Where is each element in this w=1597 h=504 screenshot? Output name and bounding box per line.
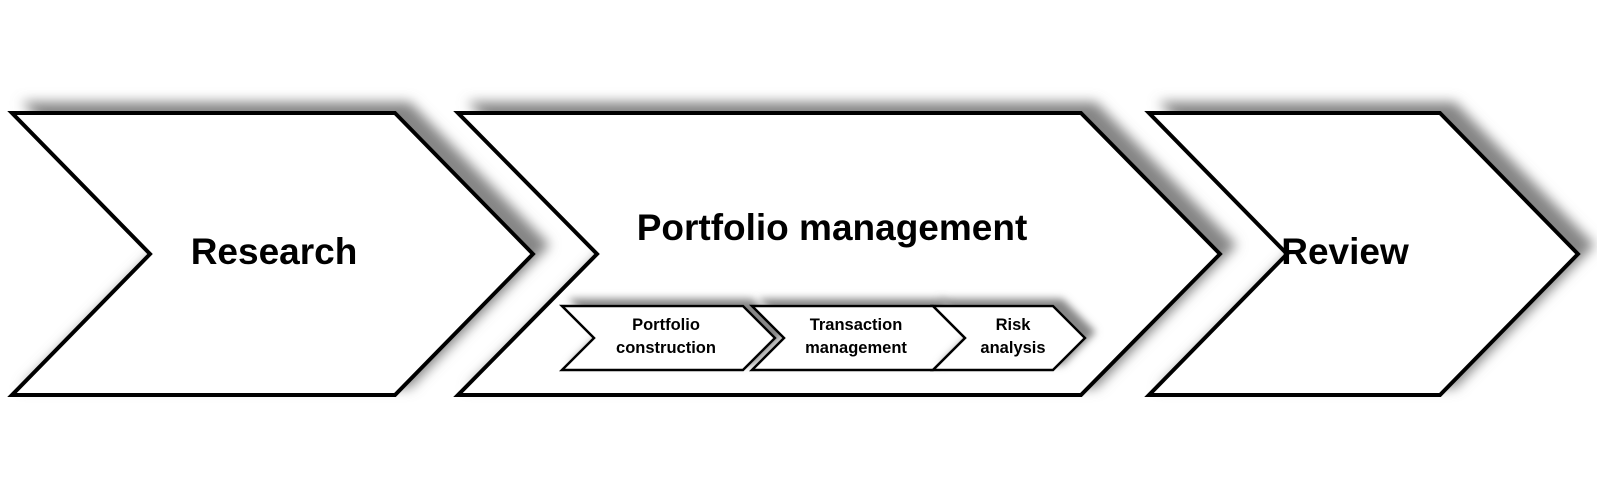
stage-label-review: Review: [1281, 231, 1409, 272]
substage-portfolio-construction[interactable]: Portfolio construction: [562, 306, 775, 370]
substage-label-portfolio-construction-line1: Portfolio: [632, 316, 700, 334]
stage-research[interactable]: Research: [12, 113, 533, 395]
substage-label-transaction-management-line1: Transaction: [810, 316, 903, 334]
stage-portfolio-management[interactable]: Portfolio management Portfolio construct…: [458, 113, 1220, 395]
substage-label-portfolio-construction-line2: construction: [616, 339, 716, 357]
substage-label-risk-analysis-line2: analysis: [980, 339, 1045, 357]
substage-label-risk-analysis-line1: Risk: [996, 316, 1032, 334]
stage-label-portfolio-management: Portfolio management: [637, 207, 1028, 248]
substage-transaction-management[interactable]: Transaction management: [752, 306, 965, 370]
stage-label-research: Research: [191, 231, 358, 272]
substage-label-transaction-management-line2: management: [805, 339, 907, 357]
chevron-process-diagram: Research Portfolio management Portfolio …: [0, 0, 1597, 504]
diagram-canvas: Research Portfolio management Portfolio …: [0, 0, 1597, 504]
